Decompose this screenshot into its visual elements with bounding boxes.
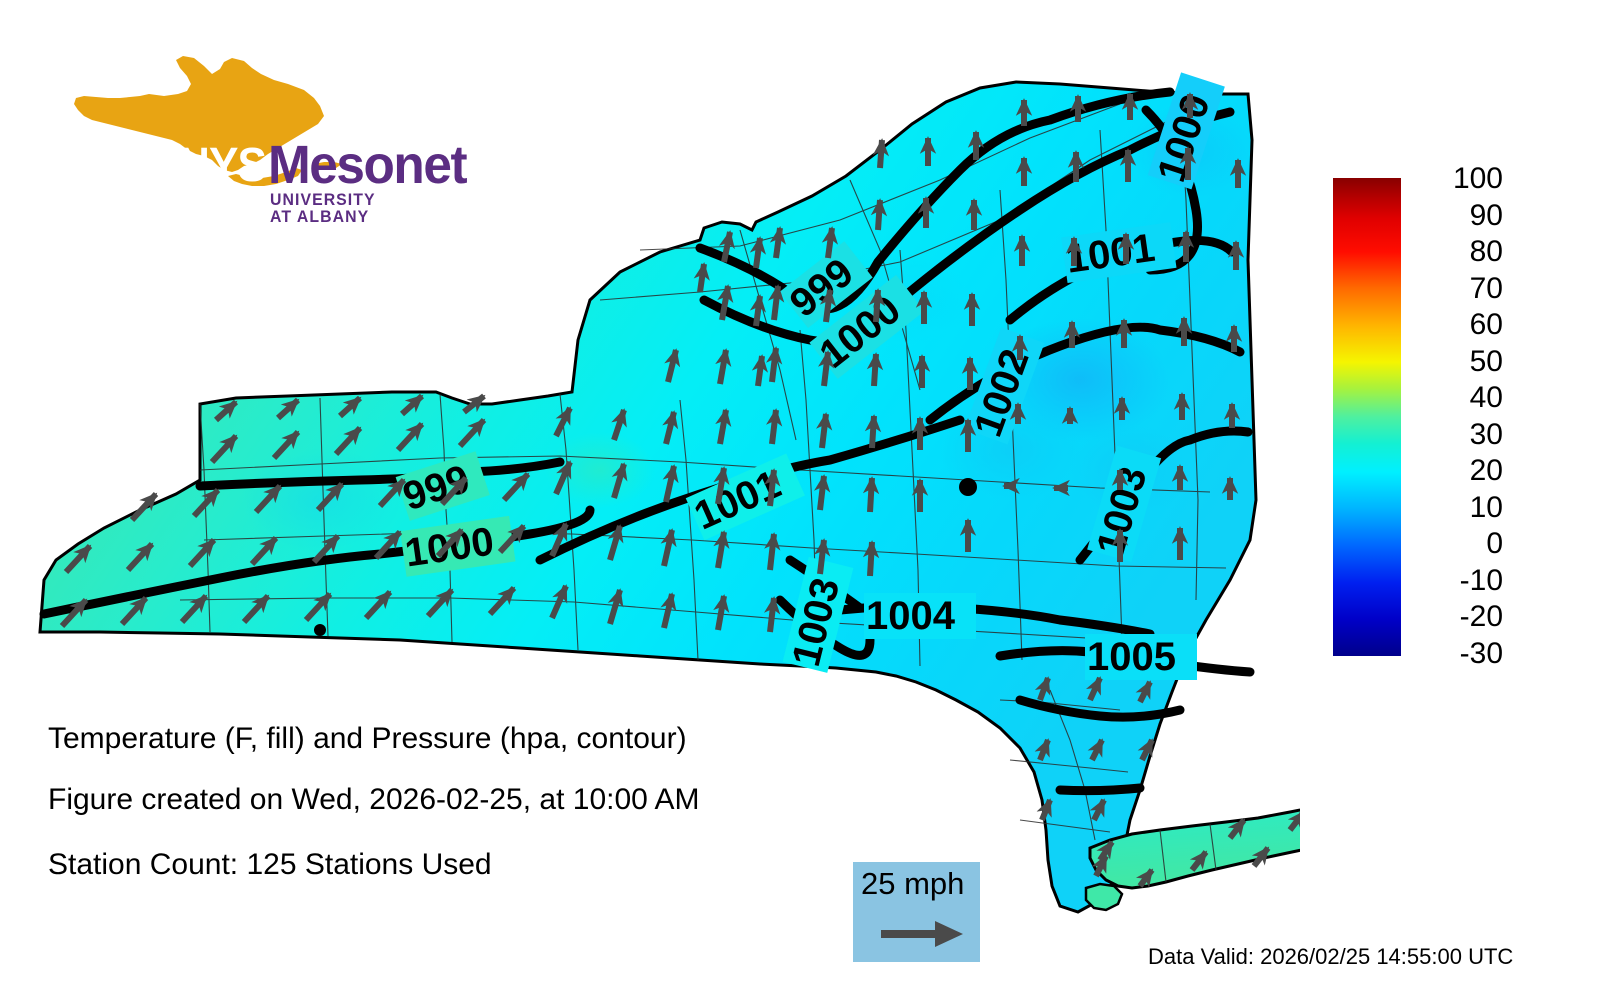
colorbar-tick-50: 50 <box>1411 347 1503 377</box>
colorbar-tick-20: 20 <box>1411 456 1503 486</box>
colorbar-gradient <box>1333 178 1401 656</box>
data-valid-timestamp: Data Valid: 2026/02/25 14:55:00 UTC <box>1148 946 1513 968</box>
colorbar-tick-30: 30 <box>1411 420 1503 450</box>
weather-map[interactable]: 999 1000 1001 1000 1002 <box>0 0 1300 960</box>
caption-variables: Temperature (F, fill) and Pressure (hpa,… <box>48 724 687 754</box>
staten-island-fill <box>1086 884 1122 910</box>
station-marker-albany[interactable] <box>959 478 977 496</box>
wind-scale-arrow-icon <box>881 918 965 950</box>
colorbar-tick-90: 90 <box>1411 201 1503 231</box>
colorbar-tick-neg10: -10 <box>1411 566 1503 596</box>
caption-created-time: Figure created on Wed, 2026-02-25, at 10… <box>48 785 700 815</box>
contour-label-1005: 1005 <box>1087 635 1176 679</box>
colorbar-tick-0: 0 <box>1411 529 1503 559</box>
colorbar-tick-80: 80 <box>1411 237 1503 267</box>
contour-label-1004: 1004 <box>866 594 956 638</box>
map-svg-canvas: 999 1000 1001 1000 1002 <box>0 0 1300 960</box>
colorbar-tick-10: 10 <box>1411 493 1503 523</box>
colorbar-tick-neg20: -20 <box>1411 602 1503 632</box>
wind-scale-legend: 25 mph <box>853 862 980 962</box>
screenshot-root: NYS Mesonet UNIVERSITY AT ALBANY <box>0 0 1600 1000</box>
colorbar-tick-40: 40 <box>1411 383 1503 413</box>
station-marker-west[interactable] <box>314 624 326 636</box>
wind-scale-label: 25 mph <box>861 868 964 899</box>
temperature-colorbar: 100 90 80 70 60 50 40 30 20 10 0 -10 -20… <box>1333 178 1573 668</box>
colorbar-tick-70: 70 <box>1411 274 1503 304</box>
caption-station-count: Station Count: 125 Stations Used <box>48 850 492 880</box>
colorbar-tick-60: 60 <box>1411 310 1503 340</box>
colorbar-tick-neg30: -30 <box>1411 639 1503 669</box>
colorbar-tick-100: 100 <box>1411 164 1503 194</box>
